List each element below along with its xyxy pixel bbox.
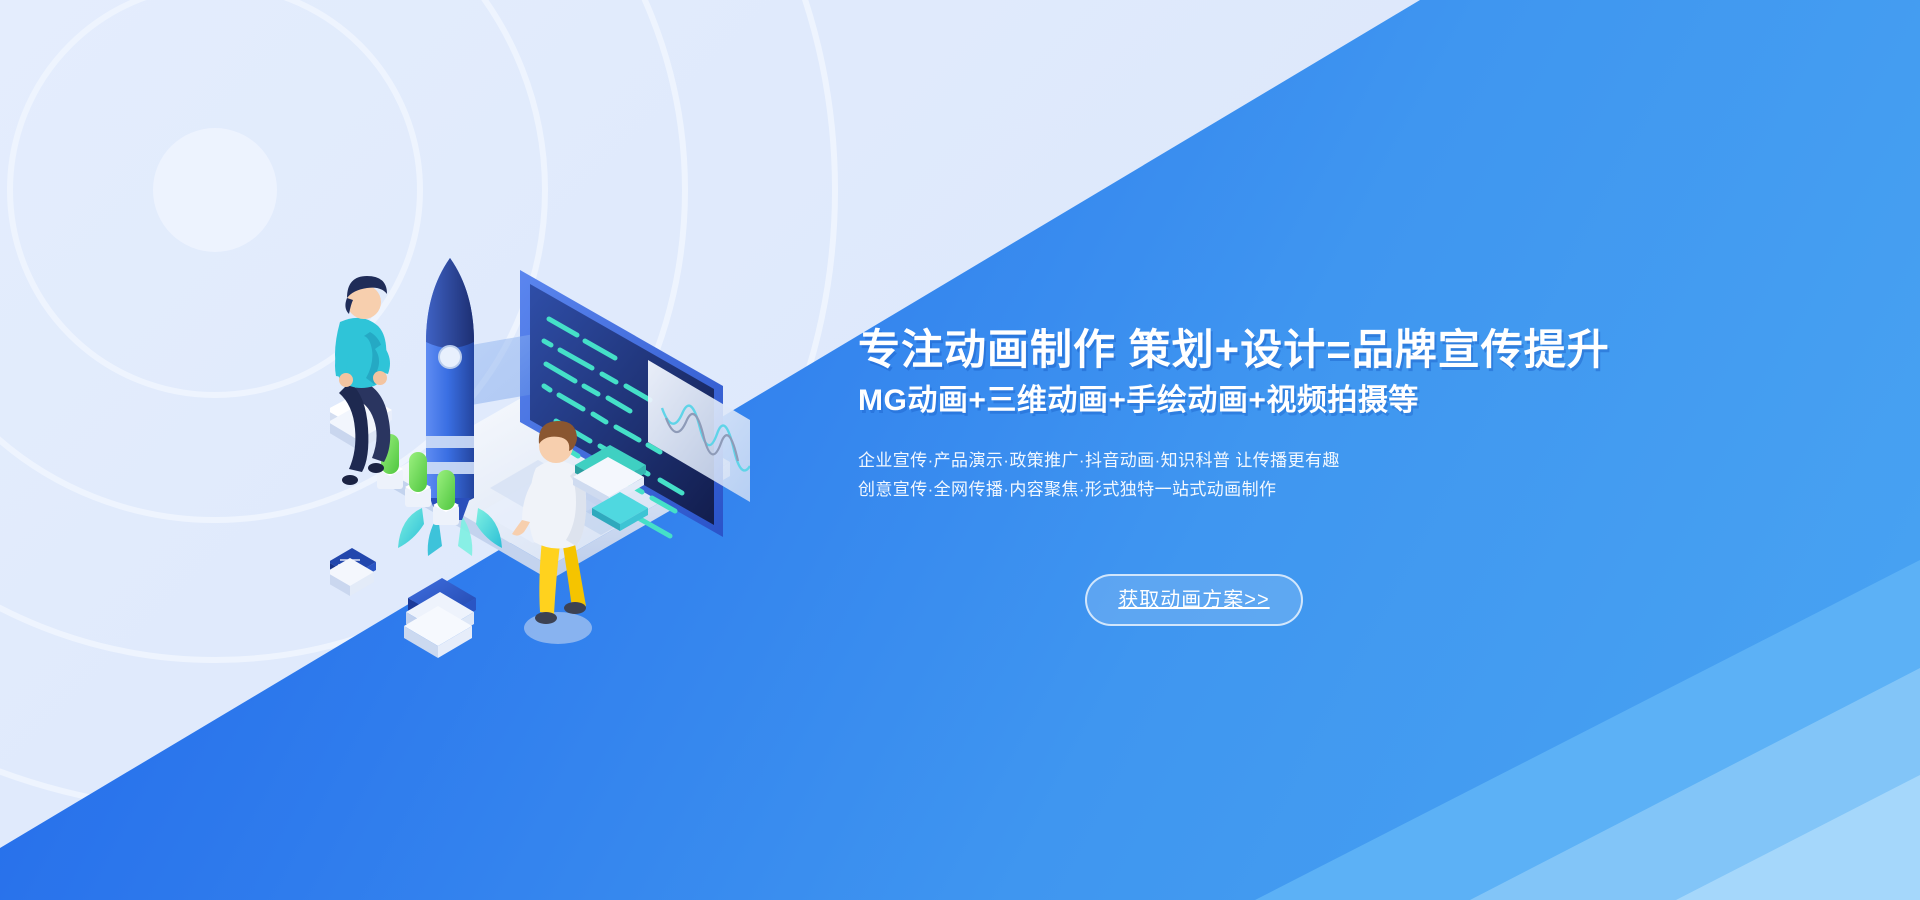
get-animation-plan-button[interactable]: 获取动画方案>>: [1085, 574, 1303, 626]
page-subtitle: MG动画+三维动画+手绘动画+视频拍摄等: [858, 383, 1578, 419]
copy-block: 专注动画制作 策划+设计=品牌宣传提升 MG动画+三维动画+手绘动画+视频拍摄等…: [858, 325, 1578, 505]
seated-person: [330, 276, 392, 485]
description-block: 企业宣传·产品演示·政策推广·抖音动画·知识科普 让传播更有趣 创意宣传·全网传…: [858, 446, 1578, 506]
promo-banner: 专注动画制作 策划+设计=品牌宣传提升 MG动画+三维动画+手绘动画+视频拍摄等…: [0, 0, 1920, 900]
description-line-2: 创意宣传·全网传播·内容聚焦·形式独特一站式动画制作: [858, 475, 1578, 505]
description-line-1: 企业宣传·产品演示·政策推广·抖音动画·知识科普 让传播更有趣: [858, 446, 1578, 476]
hero-illustration: [330, 240, 750, 670]
cta-container: 获取动画方案>>: [1085, 574, 1303, 626]
page-title: 专注动画制作 策划+设计=品牌宣传提升: [858, 325, 1578, 375]
